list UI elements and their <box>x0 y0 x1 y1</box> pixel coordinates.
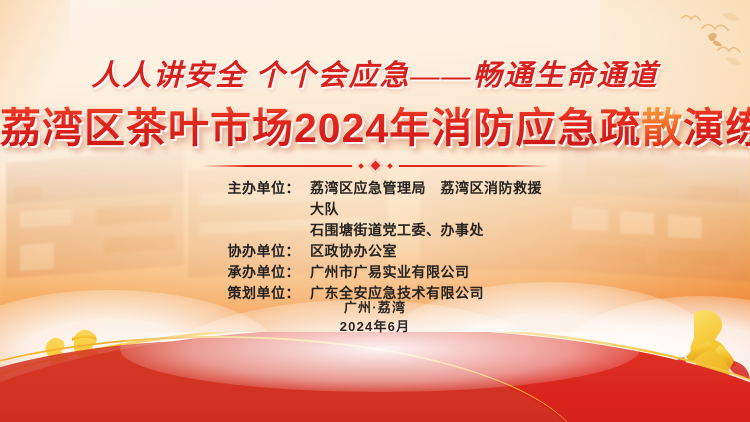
footer-date: 2024年6月 <box>0 317 750 336</box>
footer-location: 广州·荔湾 <box>0 298 750 317</box>
organizer-label: 承办单位： <box>208 262 300 283</box>
poster-canvas: 人人讲安全 个个会应急——畅通生命通道 荔湾区茶叶市场2024年消防应急疏散演练… <box>0 0 750 422</box>
organizer-label: 协办单位： <box>208 241 300 262</box>
organizer-row: 承办单位： 广州市广易实业有限公司 <box>0 262 750 283</box>
divider-dot <box>358 163 364 169</box>
organizer-value: 荔湾区应急管理局 荔湾区消防救援大队 <box>300 178 542 220</box>
title-segment: 急疏 <box>557 104 641 152</box>
organizer-list: 主办单位： 荔湾区应急管理局 荔湾区消防救援大队 石围塘街道党工委、办事处 协办… <box>0 178 750 304</box>
bottom-red-sweep <box>0 332 750 422</box>
organizer-label: 主办单位： <box>208 178 300 220</box>
poster-subtitle: 人人讲安全 个个会应急——畅通生命通道 <box>0 52 750 94</box>
organizer-label <box>208 220 300 241</box>
organizer-row: 石围塘街道党工委、办事处 <box>0 220 750 241</box>
poster-title: 荔湾区茶叶市场2024年消防应急疏散演练 <box>0 104 750 152</box>
poster-footer: 广州·荔湾 2024年6月 <box>0 298 750 336</box>
organizer-row: 主办单位： 荔湾区应急管理局 荔湾区消防救援大队 <box>0 178 750 220</box>
organizer-value: 区政协办公室 <box>300 241 542 262</box>
title-segment-highlight: 散 <box>641 104 683 152</box>
organizer-value: 石围塘街道党工委、办事处 <box>300 220 542 241</box>
divider-dot <box>387 163 393 169</box>
title-segment: 荔湾区茶叶市场2024年消防应 <box>0 104 557 152</box>
organizer-value: 广州市广易实业有限公司 <box>300 262 542 283</box>
title-segment: 演练 <box>683 104 750 152</box>
divider-rule-right <box>399 165 549 167</box>
diamond-divider-icon <box>0 160 750 171</box>
organizer-row: 协办单位： 区政协办公室 <box>0 241 750 262</box>
divider-gem <box>367 158 383 174</box>
divider-rule-left <box>202 165 352 167</box>
